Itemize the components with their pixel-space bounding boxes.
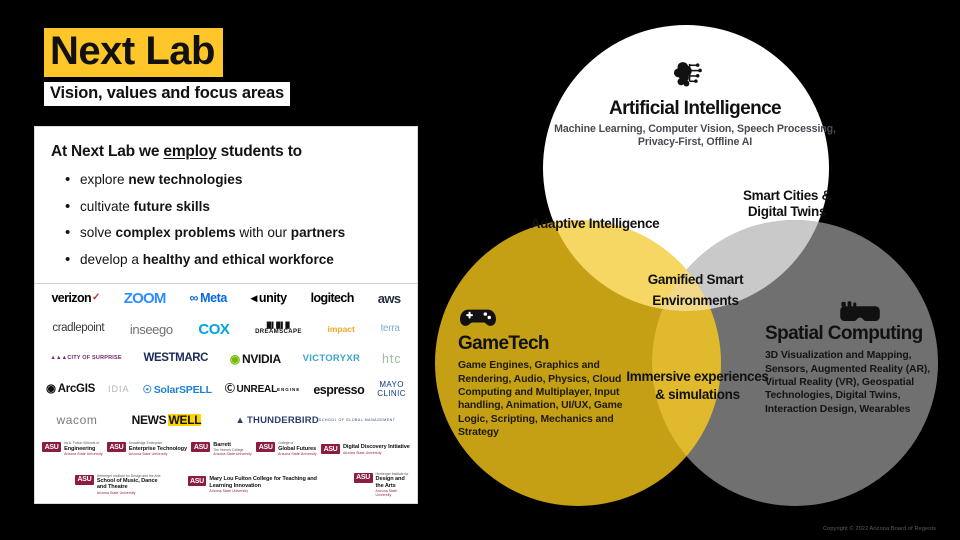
logo-victoryxr: VICTORYXR <box>303 354 361 364</box>
bullet-bold: complex problems <box>116 225 236 240</box>
logo-cox: COX <box>198 322 229 337</box>
logo-thunderbird: ▲ THUNDERBIRDSCHOOL OF GLOBAL MANAGEMENT <box>235 416 395 426</box>
logo-row-5: wacom NEWS WELL ▲ THUNDERBIRDSCHOOL OF G… <box>41 414 411 426</box>
logo-row-2: cradlepoint inseego COX █▌█▌█DREAMSCAPE … <box>41 322 411 337</box>
list-item: explore new technologies <box>65 172 401 188</box>
logo-unity: ◂ unity <box>251 292 287 305</box>
logo-cradlepoint: cradlepoint <box>52 323 104 335</box>
logo-asu-digital-discovery: ASUDigital Discovery InitiativeArizona S… <box>321 444 410 455</box>
logo-dreamscape: █▌█▌█DREAMSCAPE <box>255 323 302 335</box>
asu-mark: ASU <box>188 476 207 486</box>
logo-inseego: inseego <box>130 323 173 336</box>
card-heading-emphasis: employ <box>163 143 216 160</box>
asu-org: Arizona State University <box>129 453 187 456</box>
copyright-notice: Copyright © 2022 Arizona Board of Regent… <box>823 526 936 532</box>
logo-solarspell: ☉ SolarSPELL <box>143 385 212 396</box>
logo-row-3: ▲▲▲CITY OF SURPRISE WESTMARC ◉NVIDIA VIC… <box>41 353 411 366</box>
bullet-plain: solve <box>80 225 116 240</box>
partner-logo-grid: verizon✓ ZOOM ∞ Meta ◂ unity logitech aw… <box>35 283 417 504</box>
brain-icon <box>668 55 706 93</box>
logo-htc: htc <box>382 353 402 366</box>
logo-asu-engineering: ASUIra A. Fulton Schools ofEngineeringAr… <box>42 442 102 456</box>
asu-org: Arizona State University <box>376 490 412 497</box>
asu-org: Arizona State University <box>213 453 252 456</box>
bullet-bold: healthy and ethical workforce <box>143 252 334 267</box>
logo-row-4: ◉ ArcGIS IDIA ☉ SolarSPELL Ⓒ UNREALENGIN… <box>41 381 411 398</box>
list-item: cultivate future skills <box>65 199 401 215</box>
asu-unit: School of Music, Dance and Theatre <box>97 478 166 491</box>
logo-verizon: verizon✓ <box>51 292 99 305</box>
logo-impact: impact <box>327 325 354 334</box>
asu-mark: ASU <box>75 475 94 485</box>
logo-asu-music-dance-theatre: ASUHerberger Institute for Design and th… <box>75 475 166 496</box>
logo-unreal-engine: Ⓒ UNREALENGINE <box>225 385 300 395</box>
logo-nvidia: ◉NVIDIA <box>230 353 281 365</box>
list-item: solve complex problems with our partners <box>65 225 401 241</box>
logo-city-of-surprise: ▲▲▲CITY OF SURPRISE <box>50 356 121 362</box>
asu-mark: ASU <box>256 442 275 452</box>
asu-logo-row-1: ASUIra A. Fulton Schools ofEngineeringAr… <box>41 442 411 456</box>
card-heading: At Next Lab we employ students to <box>51 143 401 161</box>
logo-westmarc: WESTMARC <box>144 353 209 365</box>
logo-row-1: verizon✓ ZOOM ∞ Meta ◂ unity logitech aw… <box>41 291 411 306</box>
gamepad-icon <box>460 305 496 331</box>
asu-mark: ASU <box>107 442 126 452</box>
asu-mark: ASU <box>321 444 340 454</box>
logo-arcgis: ◉ ArcGIS <box>46 384 95 396</box>
logo-asu-global-futures: ASUCollege ofGlobal FuturesArizona State… <box>256 442 316 456</box>
asu-org: Arizona State University <box>209 490 331 493</box>
bullet-plain: develop a <box>80 252 143 267</box>
list-item: develop a healthy and ethical workforce <box>65 252 401 268</box>
asu-mark: ASU <box>42 442 61 452</box>
page-title: Next Lab <box>44 28 223 77</box>
logo-logitech: logitech <box>311 292 354 305</box>
logo-asu-mary-lou-fulton: ASUMary Lou Fulton College for Teaching … <box>188 476 332 493</box>
title-block: Next Lab Vision, values and focus areas <box>44 28 290 106</box>
asu-org: Arizona State University <box>97 492 166 495</box>
page-subtitle: Vision, values and focus areas <box>44 82 290 106</box>
logo-zoom: ZOOM <box>124 291 166 306</box>
asu-org: Arizona State University <box>64 453 103 456</box>
logo-asu-barrett: ASUBarrettThe Honors CollegeArizona Stat… <box>191 442 251 456</box>
asu-org: Arizona State University <box>343 452 410 455</box>
bullet-list: explore new technologies cultivate futur… <box>65 172 401 268</box>
asu-logo-row-2: ASUHerberger Institute for Design and th… <box>41 473 411 497</box>
asu-org: Arizona State University <box>278 453 317 456</box>
bullet-bold2: partners <box>291 225 345 240</box>
logo-asu-enterprise-technology: ASUKnowledge EnterpriseEnterprise Techno… <box>107 442 187 456</box>
asu-mark: ASU <box>354 473 373 483</box>
bullet-plain: cultivate <box>80 199 134 214</box>
logo-terra: terra <box>381 324 400 334</box>
asu-mark: ASU <box>191 442 210 452</box>
bullet-bold: future skills <box>134 199 210 214</box>
logo-aws: aws <box>378 292 401 305</box>
logo-meta: ∞ Meta <box>189 292 227 305</box>
venn-diagram: Artificial Intelligence Machine Learning… <box>430 0 960 540</box>
asu-unit: Design and the Arts <box>376 476 412 489</box>
logo-news-well: NEWS WELL <box>132 414 202 426</box>
vr-headset-icon <box>840 300 880 326</box>
bullet-plain: explore <box>80 172 128 187</box>
asu-unit: Mary Lou Fulton College for Teaching and… <box>209 476 331 489</box>
card-heading-pre: At Next Lab we <box>51 143 163 160</box>
card-heading-post: students to <box>217 143 302 160</box>
bullet-tail: with our <box>236 225 291 240</box>
bullet-bold: new technologies <box>128 172 242 187</box>
content-card: At Next Lab we employ students to explor… <box>34 126 418 504</box>
logo-idia: IDIA <box>108 385 130 394</box>
logo-mayo-clinic: MAYOCLINIC <box>377 381 406 398</box>
logo-asu-design-and-arts: ASUHerberger Institute forDesign and the… <box>354 473 411 497</box>
logo-wacom: wacom <box>57 414 98 426</box>
asu-unit: Digital Discovery Initiative <box>343 444 410 450</box>
logo-espresso: espresso <box>313 384 364 397</box>
slide-root: Next Lab Vision, values and focus areas … <box>0 0 960 540</box>
card-text-area: At Next Lab we employ students to explor… <box>35 127 417 283</box>
